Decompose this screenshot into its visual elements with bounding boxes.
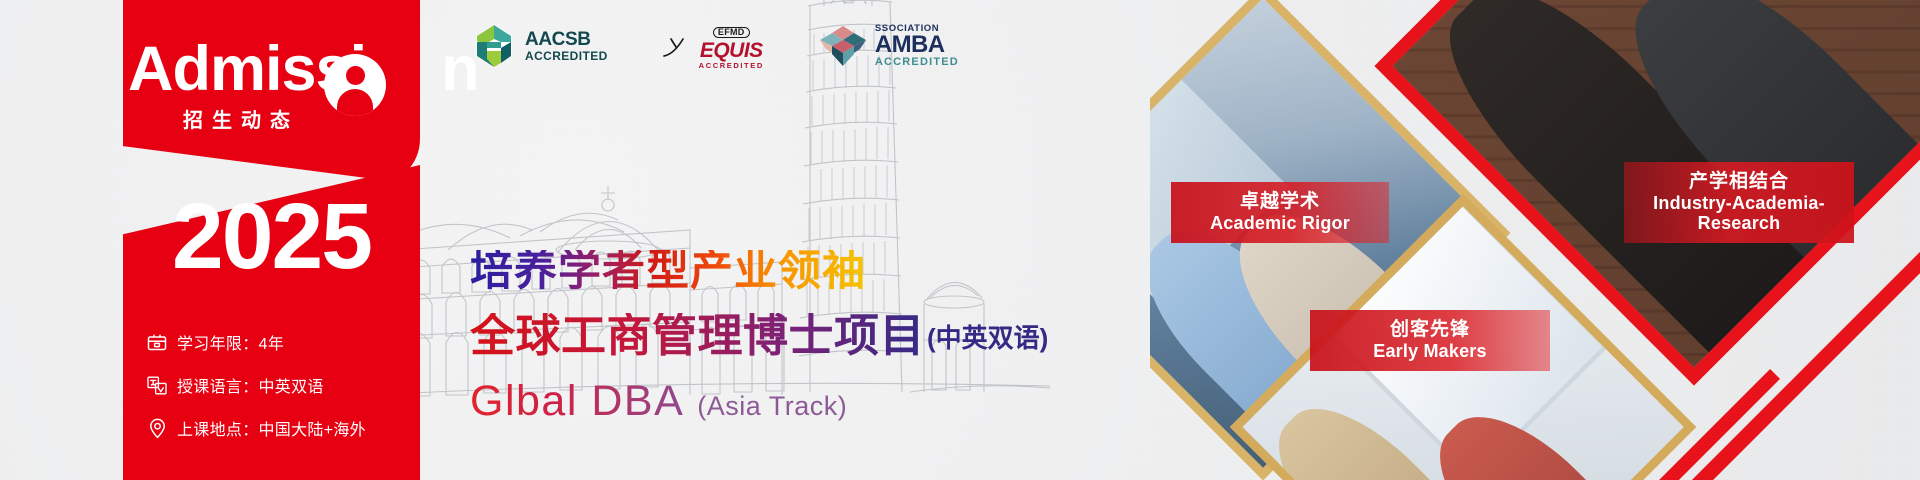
caption-industry-academia: 产学相结合 Industry-Academia-Research xyxy=(1624,162,1854,243)
accreditation-amba: SSOCIATION AMBA ACCREDITED xyxy=(818,24,959,68)
fact-duration-label: 学习年限：4年 xyxy=(177,330,284,354)
admission-logo-subtitle: 招生动态 xyxy=(183,104,299,133)
fact-location: 上课地点：中国大陆+海外 xyxy=(146,416,426,440)
admission-year: 2025 xyxy=(123,190,420,283)
accreditation-logos: AACSB ACCREDITED EFMD EQUIS ACCREDITED xyxy=(470,22,959,70)
left-red-panel: Admissioon 招生动态 2025 学习年限：4年 xyxy=(0,0,420,480)
headline-program-en-main: Glbal DBA xyxy=(470,380,684,423)
caption-academic-rigor: 卓越学术 Academic Rigor xyxy=(1171,182,1389,243)
accreditation-aacsb: AACSB ACCREDITED xyxy=(470,22,608,70)
aacsb-status: ACCREDITED xyxy=(525,50,608,62)
headline-program-cn-main: 全球工商管理博士项目 xyxy=(470,313,925,358)
caption-early-makers-en: Early Makers xyxy=(1320,341,1540,362)
equis-status: ACCREDITED xyxy=(699,62,764,70)
admission-banner: Admissioon 招生动态 2025 学习年限：4年 xyxy=(0,0,1920,480)
fact-duration: 学习年限：4年 xyxy=(146,330,426,354)
program-facts-list: 学习年限：4年 授课语言：中英双语 xyxy=(146,330,426,459)
caption-academic-rigor-en: Academic Rigor xyxy=(1181,213,1379,234)
aacsb-name: AACSB xyxy=(525,30,608,49)
headline-program-en-note: (Asia Track) xyxy=(697,391,847,422)
accreditation-equis: EFMD EQUIS ACCREDITED xyxy=(662,23,764,69)
efmd-swoosh-icon xyxy=(662,31,696,61)
headline-program-cn-note: (中英双语) xyxy=(927,318,1048,358)
caption-industry-academia-en: Industry-Academia-Research xyxy=(1634,193,1844,234)
admission-logo: Admissioon 招生动态 xyxy=(123,38,423,143)
person-body xyxy=(337,89,373,116)
aacsb-logo-icon xyxy=(470,22,518,70)
headline-program-cn: 全球工商管理博士项目 (中英双语) xyxy=(470,313,1048,358)
admission-logo-word: Admissioon xyxy=(128,38,479,101)
efmd-tag: EFMD xyxy=(713,27,750,38)
caption-academic-rigor-cn: 卓越学术 xyxy=(1181,191,1379,213)
amba-name: AMBA xyxy=(875,34,959,57)
headline-program-en: Glbal DBA (Asia Track) xyxy=(470,380,847,423)
translate-icon xyxy=(146,374,168,396)
person-head xyxy=(346,66,365,85)
caption-industry-academia-cn: 产学相结合 xyxy=(1634,171,1844,193)
fact-location-label: 上课地点：中国大陆+海外 xyxy=(177,416,366,440)
fact-language-label: 授课语言：中英双语 xyxy=(177,373,324,397)
person-in-circle-icon xyxy=(324,54,386,116)
calendar-icon xyxy=(146,331,168,353)
equis-name: EQUIS xyxy=(699,40,764,61)
headline-tagline: 培养学者型产业领袖 xyxy=(470,250,866,293)
caption-early-makers-cn: 创客先锋 xyxy=(1320,319,1540,341)
location-pin-icon xyxy=(146,417,168,439)
amba-diamond-icon xyxy=(818,24,868,68)
amba-status: ACCREDITED xyxy=(875,57,959,68)
caption-early-makers: 创客先锋 Early Makers xyxy=(1310,310,1550,371)
fact-language: 授课语言：中英双语 xyxy=(146,373,426,397)
